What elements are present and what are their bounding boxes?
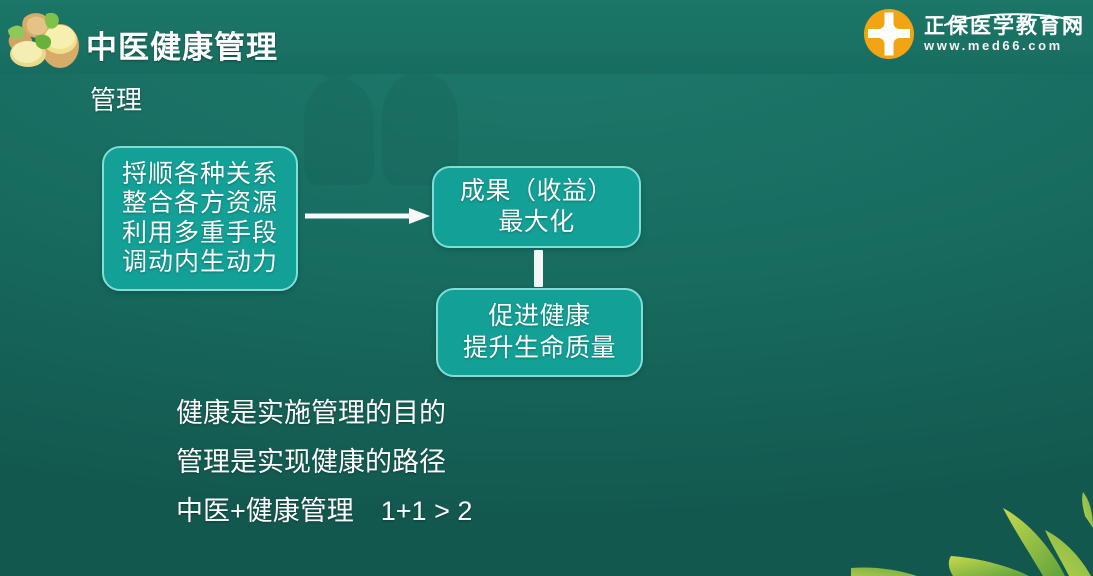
subheading: 管理 [90, 85, 142, 116]
outcome-line-1: 成果（收益） [460, 176, 613, 207]
med66-cross-circle-icon [863, 8, 915, 60]
summary-line-1: 健康是实施管理的目的 [176, 400, 776, 427]
methods-line-3: 利用多重手段 [122, 219, 278, 248]
vertical-connector [534, 250, 543, 287]
header-bar: 中医健康管理 正保医学教育网 www.med66.com [0, 0, 1093, 74]
ginger-root-icon [2, 4, 86, 72]
page-title: 中医健康管理 [86, 22, 278, 67]
logo-swoosh-icon [943, 10, 1081, 26]
right-arrow-icon [305, 207, 430, 225]
slide-root: 中医健康管理 正保医学教育网 www.med66.com 管理 捋顺各种关系 整… [0, 0, 1093, 576]
logo-url-text: www.med66.com [924, 39, 1085, 52]
summary-line-3: 中医+健康管理 1+1 > 2 [176, 498, 776, 525]
bamboo-leaves-decoration [833, 456, 1093, 576]
health-box[interactable]: 促进健康 提升生命质量 [436, 288, 643, 377]
health-line-2: 提升生命质量 [463, 333, 616, 364]
outcome-box[interactable]: 成果（收益） 最大化 [432, 166, 641, 248]
outcome-line-2: 最大化 [498, 207, 575, 238]
site-logo[interactable]: 正保医学教育网 www.med66.com [863, 6, 1085, 62]
methods-box[interactable]: 捋顺各种关系 整合各方资源 利用多重手段 调动内生动力 [102, 146, 298, 291]
methods-line-1: 捋顺各种关系 [122, 160, 278, 189]
summary-text-block: 健康是实施管理的目的 管理是实现健康的路径 中医+健康管理 1+1 > 2 [176, 400, 776, 525]
health-line-1: 促进健康 [488, 301, 590, 332]
methods-line-4: 调动内生动力 [122, 248, 278, 277]
summary-line-2: 管理是实现健康的路径 [176, 449, 776, 476]
methods-line-2: 整合各方资源 [122, 189, 278, 218]
